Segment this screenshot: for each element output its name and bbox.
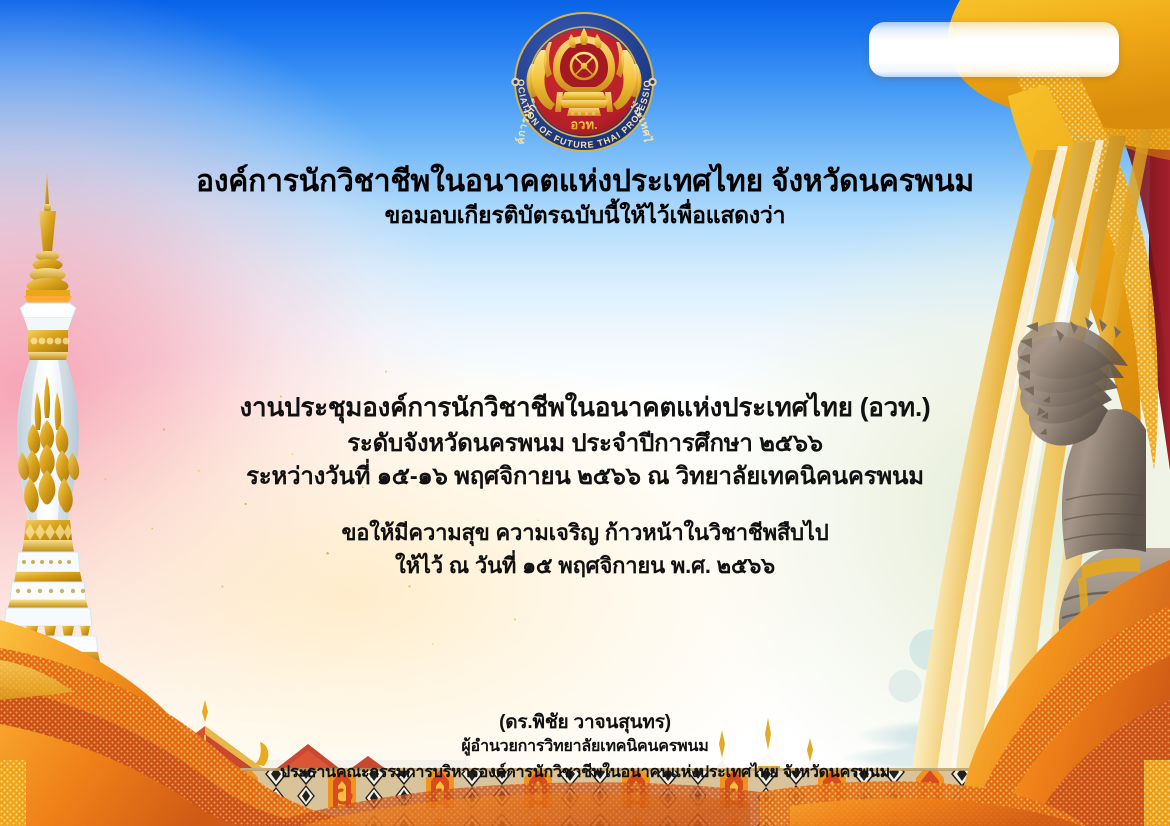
wish-line-1: ขอให้มีความสุข ความเจริญ ก้าวหน้าในวิชาช…	[0, 515, 1170, 550]
avt-association-seal: องค์การนักวิชาชีพในอนาคตแห่งประเทศไทย AS…	[501, 12, 667, 154]
signatory-position-2: ประธานคณะกรรมการบริหารองค์การนักวิชาชีพใ…	[0, 760, 1170, 785]
signatory-position-1: ผู้อำนวยการวิทยาลัยเทคนิคนครพนม	[0, 734, 1170, 759]
certificate-canvas: องค์การนักวิชาชีพในอนาคตแห่งประเทศไทย AS…	[0, 0, 1170, 826]
event-line-3: ระหว่างวันที่ ๑๕-๑๖ พฤศจิกายน ๒๕๖๖ ณ วิท…	[0, 456, 1170, 495]
seal-abbreviation: อวท.	[570, 117, 597, 132]
header-line-2: ขอมอบเกียรติบัตรฉบับนี้ให้ไว้เพื่อแสดงว่…	[0, 198, 1170, 234]
blank-name-plate[interactable]	[869, 22, 1119, 77]
recipient-name-field[interactable]	[0, 300, 1170, 334]
issue-date-line: ให้ไว้ ณ วันที่ ๑๕ พฤศจิกายน พ.ศ. ๒๕๖๖	[0, 548, 1170, 583]
signatory-name: (ดร.พิชัย วาจนสุนทร)	[0, 707, 1170, 737]
event-line-1: งานประชุมองค์การนักวิชาชีพในอนาคตแห่งประ…	[0, 387, 1170, 428]
